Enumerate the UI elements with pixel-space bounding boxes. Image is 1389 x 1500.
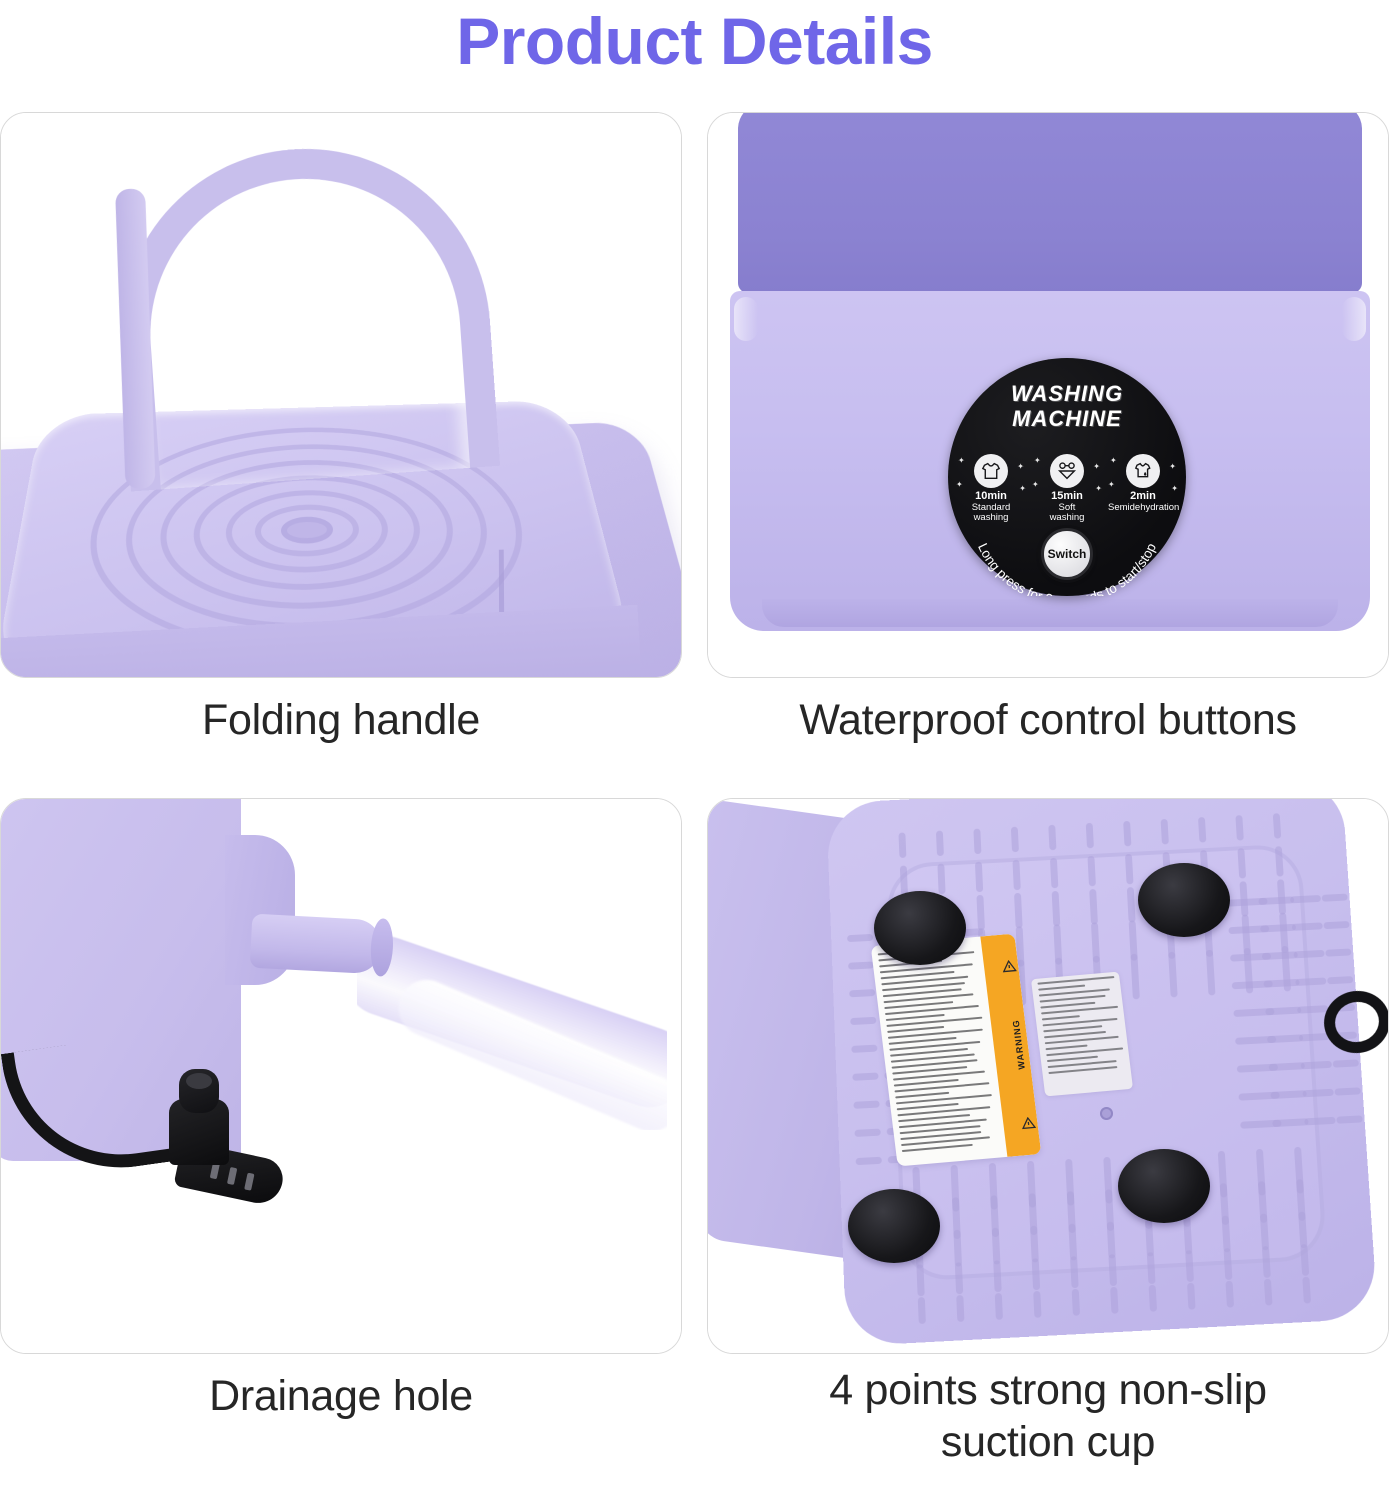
tshirt-icon — [974, 454, 1008, 488]
page-title: Product Details — [0, 0, 1389, 100]
label-text-line — [1038, 985, 1085, 991]
warning-triangle-icon — [1014, 1117, 1029, 1130]
rib — [1161, 819, 1169, 845]
brand-line-1: WASHING — [948, 382, 1186, 407]
sparkle-icon: ✦ — [1171, 484, 1178, 493]
rib — [1185, 1250, 1194, 1282]
switch-button[interactable]: Switch — [1041, 528, 1093, 580]
spin-dry-icon — [1126, 454, 1160, 488]
switch-button-wrap[interactable]: Switch — [1041, 528, 1093, 580]
rib — [1127, 887, 1136, 923]
rib — [1300, 1244, 1309, 1276]
rib — [852, 1072, 878, 1080]
label-text-line — [1045, 1045, 1087, 1051]
rib — [1086, 823, 1094, 849]
rib — [1014, 893, 1023, 929]
plug-pin — [244, 1173, 254, 1191]
mode-button-semidehydration[interactable]: ✦ ✦ ✦ ✦ 2min — [1108, 454, 1178, 523]
warning-label: WARNING — [871, 934, 1042, 1167]
rib — [1198, 817, 1206, 843]
image-card-folding-handle — [0, 112, 682, 678]
rib — [1304, 1117, 1336, 1126]
warning-triangle-icon — [994, 960, 1009, 973]
rib — [1262, 951, 1298, 960]
rib — [1068, 1224, 1077, 1261]
rib — [1263, 979, 1299, 988]
warning-label-text-lines — [878, 945, 1003, 1158]
image-card-suction-cups: WARNING — [707, 798, 1389, 1354]
label-text-line — [1042, 1015, 1080, 1020]
panel-control-buttons: WASHING MACHINE ✦ ✦ ✦ ✦ — [707, 112, 1389, 678]
mode-buttons: ✦ ✦ ✦ ✦ 10min Standardwashi — [956, 454, 1178, 523]
sparkle-icon: ✦ — [1169, 462, 1176, 471]
rib — [1235, 815, 1243, 841]
rib — [1273, 813, 1282, 839]
caption-control-buttons: Waterproof control buttons — [707, 678, 1389, 798]
rib — [1048, 825, 1056, 851]
rib — [955, 1262, 963, 1294]
caption-suction-cups-line-2: suction cup — [941, 1418, 1155, 1466]
image-card-control-buttons: WASHING MACHINE ✦ ✦ ✦ ✦ — [707, 112, 1389, 678]
rib — [953, 1230, 962, 1267]
control-buttons-illustration: WASHING MACHINE ✦ ✦ ✦ ✦ — [708, 113, 1388, 677]
caption-suction-cups: 4 points strong non-slip suction cup — [707, 1354, 1389, 1500]
rib — [849, 989, 875, 997]
label-text-line — [1048, 1066, 1117, 1074]
rib — [1301, 1061, 1332, 1070]
rib — [973, 829, 981, 855]
rib — [916, 1264, 924, 1296]
control-panel-dial[interactable]: WASHING MACHINE ✦ ✦ ✦ ✦ — [948, 358, 1186, 596]
rating-plate-label — [1031, 972, 1133, 1097]
sparkle-icon: ✦ — [958, 456, 965, 465]
rib — [1145, 1220, 1154, 1257]
rib — [918, 1297, 926, 1324]
rib — [850, 1017, 876, 1025]
rib — [1125, 854, 1134, 885]
rib — [1302, 1089, 1333, 1098]
rib — [1147, 1252, 1156, 1284]
rib — [1149, 1285, 1158, 1312]
rib — [1223, 1248, 1232, 1280]
control-panel-brand: WASHING MACHINE — [948, 382, 1186, 431]
rib — [1072, 1289, 1080, 1316]
rib — [1258, 896, 1294, 905]
details-grid: Folding handle WASHING MACHINE — [0, 112, 1389, 1500]
label-text-line — [1037, 976, 1114, 985]
rib — [1270, 1090, 1306, 1099]
panel-suction-cups: WARNING — [707, 798, 1389, 1354]
machine-foot — [762, 599, 1338, 627]
rib — [1110, 1287, 1118, 1314]
caption-drainage-hole: Drainage hole — [0, 1354, 682, 1500]
rib — [1260, 924, 1296, 933]
rib — [1290, 895, 1321, 903]
rib — [1322, 894, 1348, 902]
rib — [1333, 1059, 1359, 1067]
mode-time-semidehydration: 2min — [1108, 491, 1178, 503]
power-plug — [169, 1099, 229, 1165]
rib — [1264, 1279, 1273, 1306]
rib — [1052, 891, 1061, 927]
rib — [1033, 1291, 1041, 1318]
rib — [847, 934, 873, 942]
rib — [1292, 922, 1323, 930]
caption-folding-handle: Folding handle — [0, 678, 682, 798]
folding-handle-arch[interactable] — [108, 136, 500, 491]
rib — [993, 1260, 1002, 1292]
rib — [1295, 977, 1326, 986]
rib — [1334, 1087, 1360, 1095]
rib — [1327, 976, 1353, 984]
rib — [975, 862, 983, 893]
rib — [1206, 950, 1216, 996]
mode-button-soft-washing[interactable]: ✦ ✦ ✦ ✦ — [1032, 454, 1102, 523]
rib — [1267, 1034, 1303, 1043]
mode-time-standard: 10min — [956, 491, 1026, 503]
rib — [854, 1129, 880, 1137]
suction-cup-top-right — [1138, 863, 1230, 937]
folding-handle-illustration — [1, 113, 681, 677]
sparkle-icon: ✦ — [1019, 484, 1026, 493]
warning-word: WARNING — [1011, 1019, 1027, 1070]
label-text-line — [1040, 995, 1106, 1003]
suction-cups-illustration: WARNING — [708, 799, 1388, 1353]
label-text-line — [1047, 1056, 1098, 1062]
mode-name-soft: Softwashing — [1032, 503, 1102, 523]
rib — [1302, 1277, 1311, 1304]
rib — [1130, 954, 1139, 1000]
rib — [1298, 1211, 1307, 1248]
rib — [1087, 856, 1096, 887]
rib — [1293, 950, 1324, 958]
rib — [1237, 848, 1246, 879]
rib — [1108, 1254, 1117, 1286]
rib — [856, 1157, 882, 1165]
rib — [851, 1045, 877, 1053]
suction-cup-bottom-left — [848, 1189, 940, 1263]
rib — [1275, 846, 1284, 877]
rib — [956, 1295, 964, 1322]
rib — [1168, 952, 1178, 998]
rib — [1260, 1213, 1269, 1250]
rib — [1070, 1256, 1079, 1288]
rib — [1107, 1222, 1116, 1259]
underwear-icon — [1050, 454, 1084, 488]
sparkle-icon: ✦ — [1017, 462, 1024, 471]
drainage-spout — [250, 914, 383, 975]
water-stream-group — [357, 915, 667, 1130]
rib — [992, 1228, 1001, 1265]
caption-suction-cups-line-1: 4 points strong non-slip — [829, 1366, 1266, 1414]
mode-button-standard-washing[interactable]: ✦ ✦ ✦ ✦ 10min Standardwashi — [956, 454, 1026, 523]
panel-folding-handle — [0, 112, 682, 678]
rib — [1272, 1118, 1309, 1127]
rib — [853, 1100, 879, 1108]
rib — [1011, 827, 1019, 853]
rib — [848, 961, 874, 969]
brand-line-2: MACHINE — [948, 407, 1186, 432]
sparkle-icon: ✦ — [1095, 484, 1102, 493]
rib — [1297, 1005, 1328, 1014]
base-screw — [1100, 1107, 1113, 1120]
rib — [1323, 921, 1349, 929]
rib — [1032, 1258, 1041, 1290]
rib — [936, 831, 944, 857]
rib — [1225, 1281, 1234, 1308]
rib — [1265, 1007, 1301, 1016]
rib — [937, 864, 945, 895]
rib — [1325, 948, 1351, 956]
sparkle-icon: ✦ — [1110, 456, 1117, 465]
sparkle-icon: ✦ — [1108, 480, 1115, 489]
rib — [976, 895, 985, 931]
rib — [1336, 1115, 1363, 1123]
rib — [1123, 821, 1131, 847]
suction-cup-top-left — [874, 891, 966, 965]
rib — [1187, 1283, 1196, 1310]
rib — [1222, 1216, 1231, 1253]
rib — [1089, 889, 1098, 925]
rib — [1262, 1246, 1271, 1278]
drainage-hole-illustration — [1, 799, 681, 1353]
machine-lid — [738, 112, 1362, 293]
mode-time-soft: 15min — [1032, 491, 1102, 503]
rib — [898, 832, 906, 858]
image-card-drainage-hole — [0, 798, 682, 1354]
rib — [1030, 1226, 1039, 1263]
panel-drainage-hole — [0, 798, 682, 1354]
plug-pin — [227, 1167, 237, 1185]
rib — [1050, 858, 1058, 889]
sparkle-icon: ✦ — [956, 480, 963, 489]
mode-name-standard: Standardwashing — [956, 503, 1026, 523]
rib — [1012, 860, 1020, 891]
sparkle-icon: ✦ — [1032, 480, 1039, 489]
rib — [1183, 1218, 1192, 1255]
sparkle-icon: ✦ — [1034, 456, 1041, 465]
product-details-page: Product Details Folding hand — [0, 0, 1389, 1500]
rib — [1269, 1062, 1305, 1071]
rib — [995, 1293, 1003, 1320]
sparkle-icon: ✦ — [1093, 462, 1100, 471]
mode-name-semidehydration: Semidehydration — [1108, 503, 1178, 513]
suction-cup-bottom-right — [1118, 1149, 1210, 1223]
